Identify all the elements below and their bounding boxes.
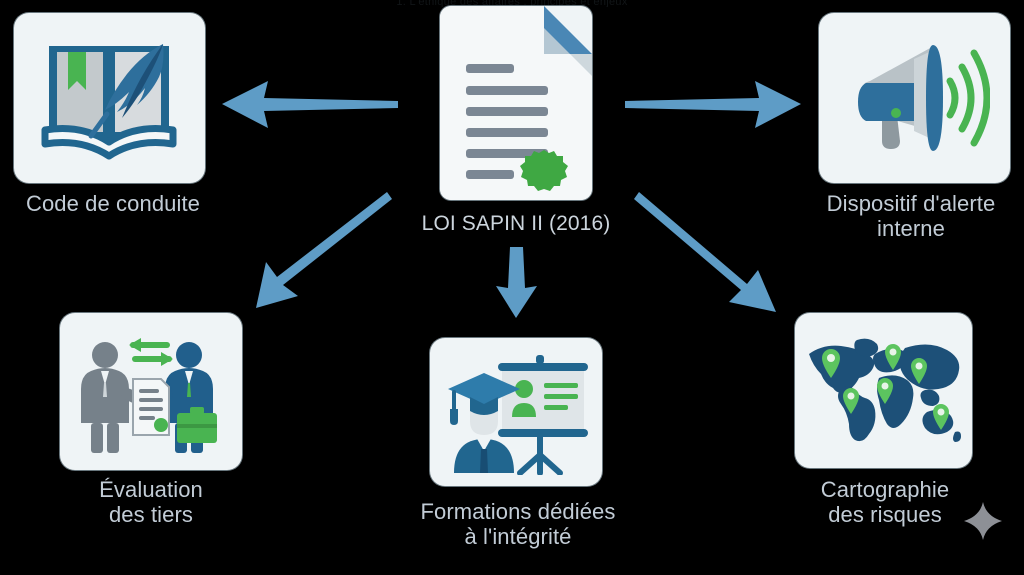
open-book-with-quill-icon bbox=[35, 32, 185, 164]
arrow-down-right-icon bbox=[634, 192, 776, 312]
card-dispositif-alerte-interne[interactable] bbox=[819, 13, 1010, 183]
label-dispositif-alerte-interne: Dispositif d'alerte interne bbox=[798, 192, 1024, 242]
graduate-presentation-icon bbox=[440, 349, 592, 475]
arrow-down-left-icon bbox=[256, 192, 392, 308]
megaphone-icon bbox=[840, 33, 990, 163]
card-formations-dediees[interactable] bbox=[430, 338, 602, 486]
label-loi-sapin-ii: LOI SAPIN II (2016) bbox=[386, 212, 646, 236]
arrow-right-icon bbox=[625, 81, 801, 128]
slide-canvas: 1. L'éthique des affaires : principes et… bbox=[0, 0, 1024, 575]
card-loi-sapin-ii[interactable] bbox=[440, 6, 592, 200]
document-with-seal-icon bbox=[440, 6, 592, 200]
label-evaluation-des-tiers: Évaluation des tiers bbox=[38, 478, 264, 528]
card-evaluation-des-tiers[interactable] bbox=[60, 313, 242, 470]
slide-footer-text bbox=[300, 566, 560, 574]
world-map-pins-icon bbox=[801, 332, 966, 450]
two-businessmen-exchange-icon bbox=[71, 327, 231, 457]
label-formations-dediees: Formations dédiées à l'intégrité bbox=[398, 500, 638, 550]
arrow-down-icon bbox=[496, 247, 537, 318]
sparkle-star-icon bbox=[962, 500, 1004, 547]
card-cartographie-des-risques[interactable] bbox=[795, 313, 972, 468]
label-code-de-conduite: Code de conduite bbox=[0, 192, 226, 217]
arrow-left-icon bbox=[222, 81, 398, 128]
card-code-de-conduite[interactable] bbox=[14, 13, 205, 183]
